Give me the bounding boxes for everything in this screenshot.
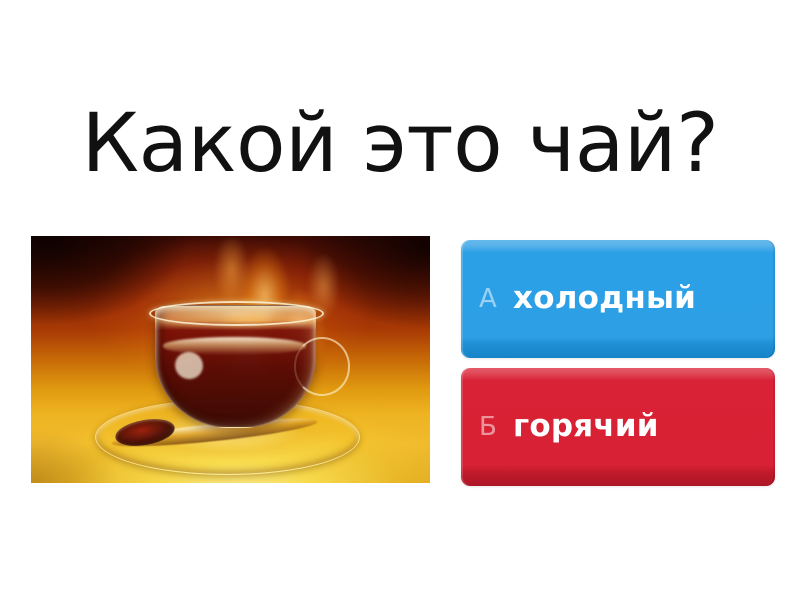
answer-option-b-label: горячий bbox=[513, 409, 761, 445]
teacup-handle-shape bbox=[294, 337, 350, 395]
answer-option-a-key: А bbox=[479, 286, 513, 312]
quiz-slide: Какой это чай? А холодный Б горячий bbox=[0, 0, 800, 600]
answer-option-a[interactable]: А холодный bbox=[461, 240, 775, 358]
answer-options: А холодный Б горячий bbox=[461, 240, 775, 486]
answer-option-b-key: Б bbox=[479, 414, 513, 440]
answer-option-b[interactable]: Б горячий bbox=[461, 368, 775, 486]
question-image bbox=[31, 236, 430, 483]
page-title: Какой это чай? bbox=[0, 96, 800, 192]
answer-option-a-label: холодный bbox=[513, 281, 761, 317]
